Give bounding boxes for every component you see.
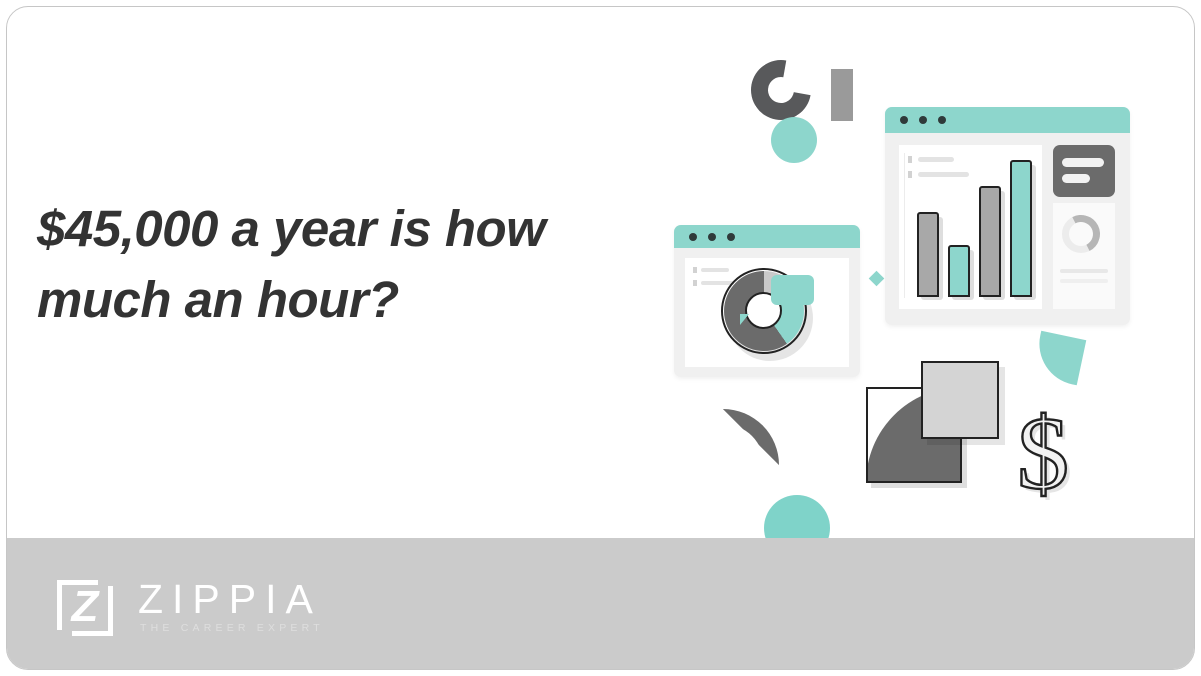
dashboard-window[interactable] [885, 107, 1130, 325]
callout-tail-icon [740, 314, 749, 325]
data-analytics-illustration: $ [647, 47, 1167, 567]
summary-line-2 [1062, 174, 1090, 183]
quarter-arc-icon [723, 409, 779, 465]
ring-card-line-2 [1060, 279, 1108, 283]
teal-circle-icon [771, 117, 817, 163]
bar-3 [979, 186, 1001, 297]
legend-line-2 [918, 172, 969, 177]
mini-ring-arc-icon [1057, 210, 1105, 258]
zippia-logo[interactable]: Z ZIPPIA THE CAREER EXPERT [57, 579, 324, 636]
legend-marker-2-icon [693, 280, 697, 286]
logo-tagline: THE CAREER EXPERT [140, 621, 324, 636]
headline-line-1: $45,000 a year is how [37, 193, 637, 264]
window-dot-2-icon [708, 233, 716, 241]
legend-line-1 [918, 157, 954, 162]
ring-card-line-1 [1060, 269, 1108, 273]
bar-2 [948, 245, 970, 297]
summary-card [1053, 145, 1115, 197]
bar-chart-panel [899, 145, 1042, 309]
logo-wordmark: ZIPPIA [138, 579, 324, 619]
donut-window[interactable] [674, 225, 860, 377]
window-dot-3-icon [727, 233, 735, 241]
window-dot-3-icon [938, 116, 946, 124]
headline-line-2: much an hour? [37, 264, 637, 335]
gray-rectangle-icon [831, 69, 853, 121]
dollar-sign-icon: $ [1017, 402, 1069, 506]
callout-box [771, 275, 814, 305]
window-dot-2-icon [919, 116, 927, 124]
article-card: $45,000 a year is how much an hour? [6, 6, 1195, 670]
summary-line-1 [1062, 158, 1104, 167]
legend-marker-1-icon [908, 156, 912, 163]
logo-notch-top [98, 579, 114, 586]
legend-line-1 [701, 268, 729, 272]
logo-notch-bottom [56, 630, 72, 637]
teal-wedge-icon [1032, 331, 1087, 386]
logo-letter-z: Z [66, 588, 104, 628]
donut-window-titlebar [674, 225, 860, 248]
partial-ring-c-shape-icon [739, 48, 823, 132]
bar-1 [917, 212, 939, 297]
teal-diamond-icon [869, 271, 885, 287]
dashboard-window-titlebar [885, 107, 1130, 133]
bar-4 [1010, 160, 1032, 297]
donut-chart-panel [685, 258, 849, 367]
legend-marker-2-icon [908, 171, 912, 178]
page-title: $45,000 a year is how much an hour? [37, 193, 637, 335]
legend-marker-1-icon [693, 267, 697, 273]
logo-text-block: ZIPPIA THE CAREER EXPERT [138, 579, 324, 636]
window-dot-1-icon [900, 116, 908, 124]
chart-axis [904, 153, 905, 298]
window-dot-1-icon [689, 233, 697, 241]
zippia-logo-mark-icon: Z [57, 580, 113, 636]
footer: Z ZIPPIA THE CAREER EXPERT [7, 538, 1194, 669]
ring-card [1053, 203, 1115, 309]
square-outline-icon [921, 361, 999, 439]
